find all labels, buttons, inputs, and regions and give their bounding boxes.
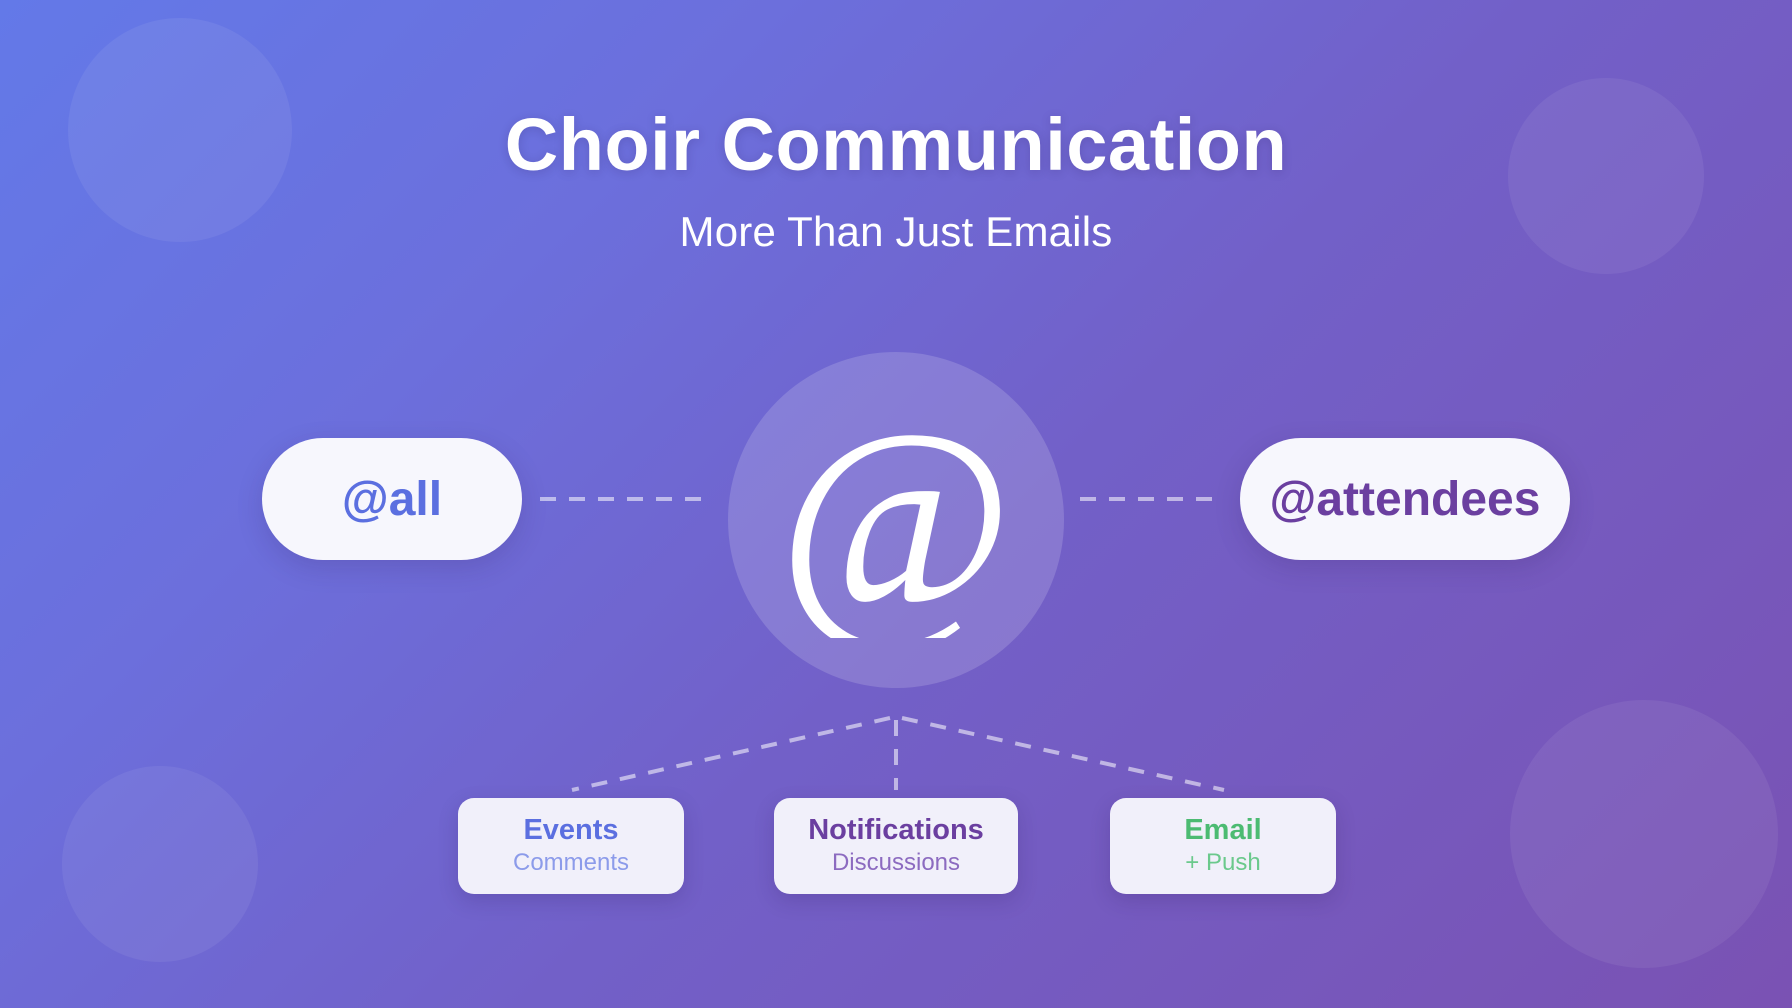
decorative-circle-bottom-right xyxy=(1510,700,1778,968)
card-events-subtitle: Comments xyxy=(513,849,629,878)
decorative-circle-bottom-left xyxy=(62,766,258,962)
card-events-title: Events xyxy=(523,814,618,846)
card-email[interactable]: Email + Push xyxy=(1110,798,1336,894)
card-notifications-subtitle: Discussions xyxy=(832,849,960,878)
card-email-subtitle: + Push xyxy=(1185,849,1260,878)
pill-attendees[interactable]: @attendees xyxy=(1240,438,1570,560)
connector-hub-to-events xyxy=(572,718,890,790)
svg-text:@: @ xyxy=(779,402,1014,638)
at-hub[interactable]: @ xyxy=(728,352,1064,688)
page-title: Choir Communication xyxy=(0,108,1792,182)
at-sign-icon: @ xyxy=(778,402,1014,638)
page-subtitle: More Than Just Emails xyxy=(0,208,1792,256)
connector-hub-to-email xyxy=(902,718,1224,790)
pill-all[interactable]: @all xyxy=(262,438,522,560)
pill-attendees-label: @attendees xyxy=(1270,472,1541,527)
card-notifications-title: Notifications xyxy=(808,814,984,846)
card-notifications[interactable]: Notifications Discussions xyxy=(774,798,1018,894)
slide-canvas: Choir Communication More Than Just Email… xyxy=(0,0,1792,1008)
pill-all-label: @all xyxy=(342,472,442,527)
card-email-title: Email xyxy=(1184,814,1261,846)
header: Choir Communication More Than Just Email… xyxy=(0,108,1792,256)
card-events[interactable]: Events Comments xyxy=(458,798,684,894)
